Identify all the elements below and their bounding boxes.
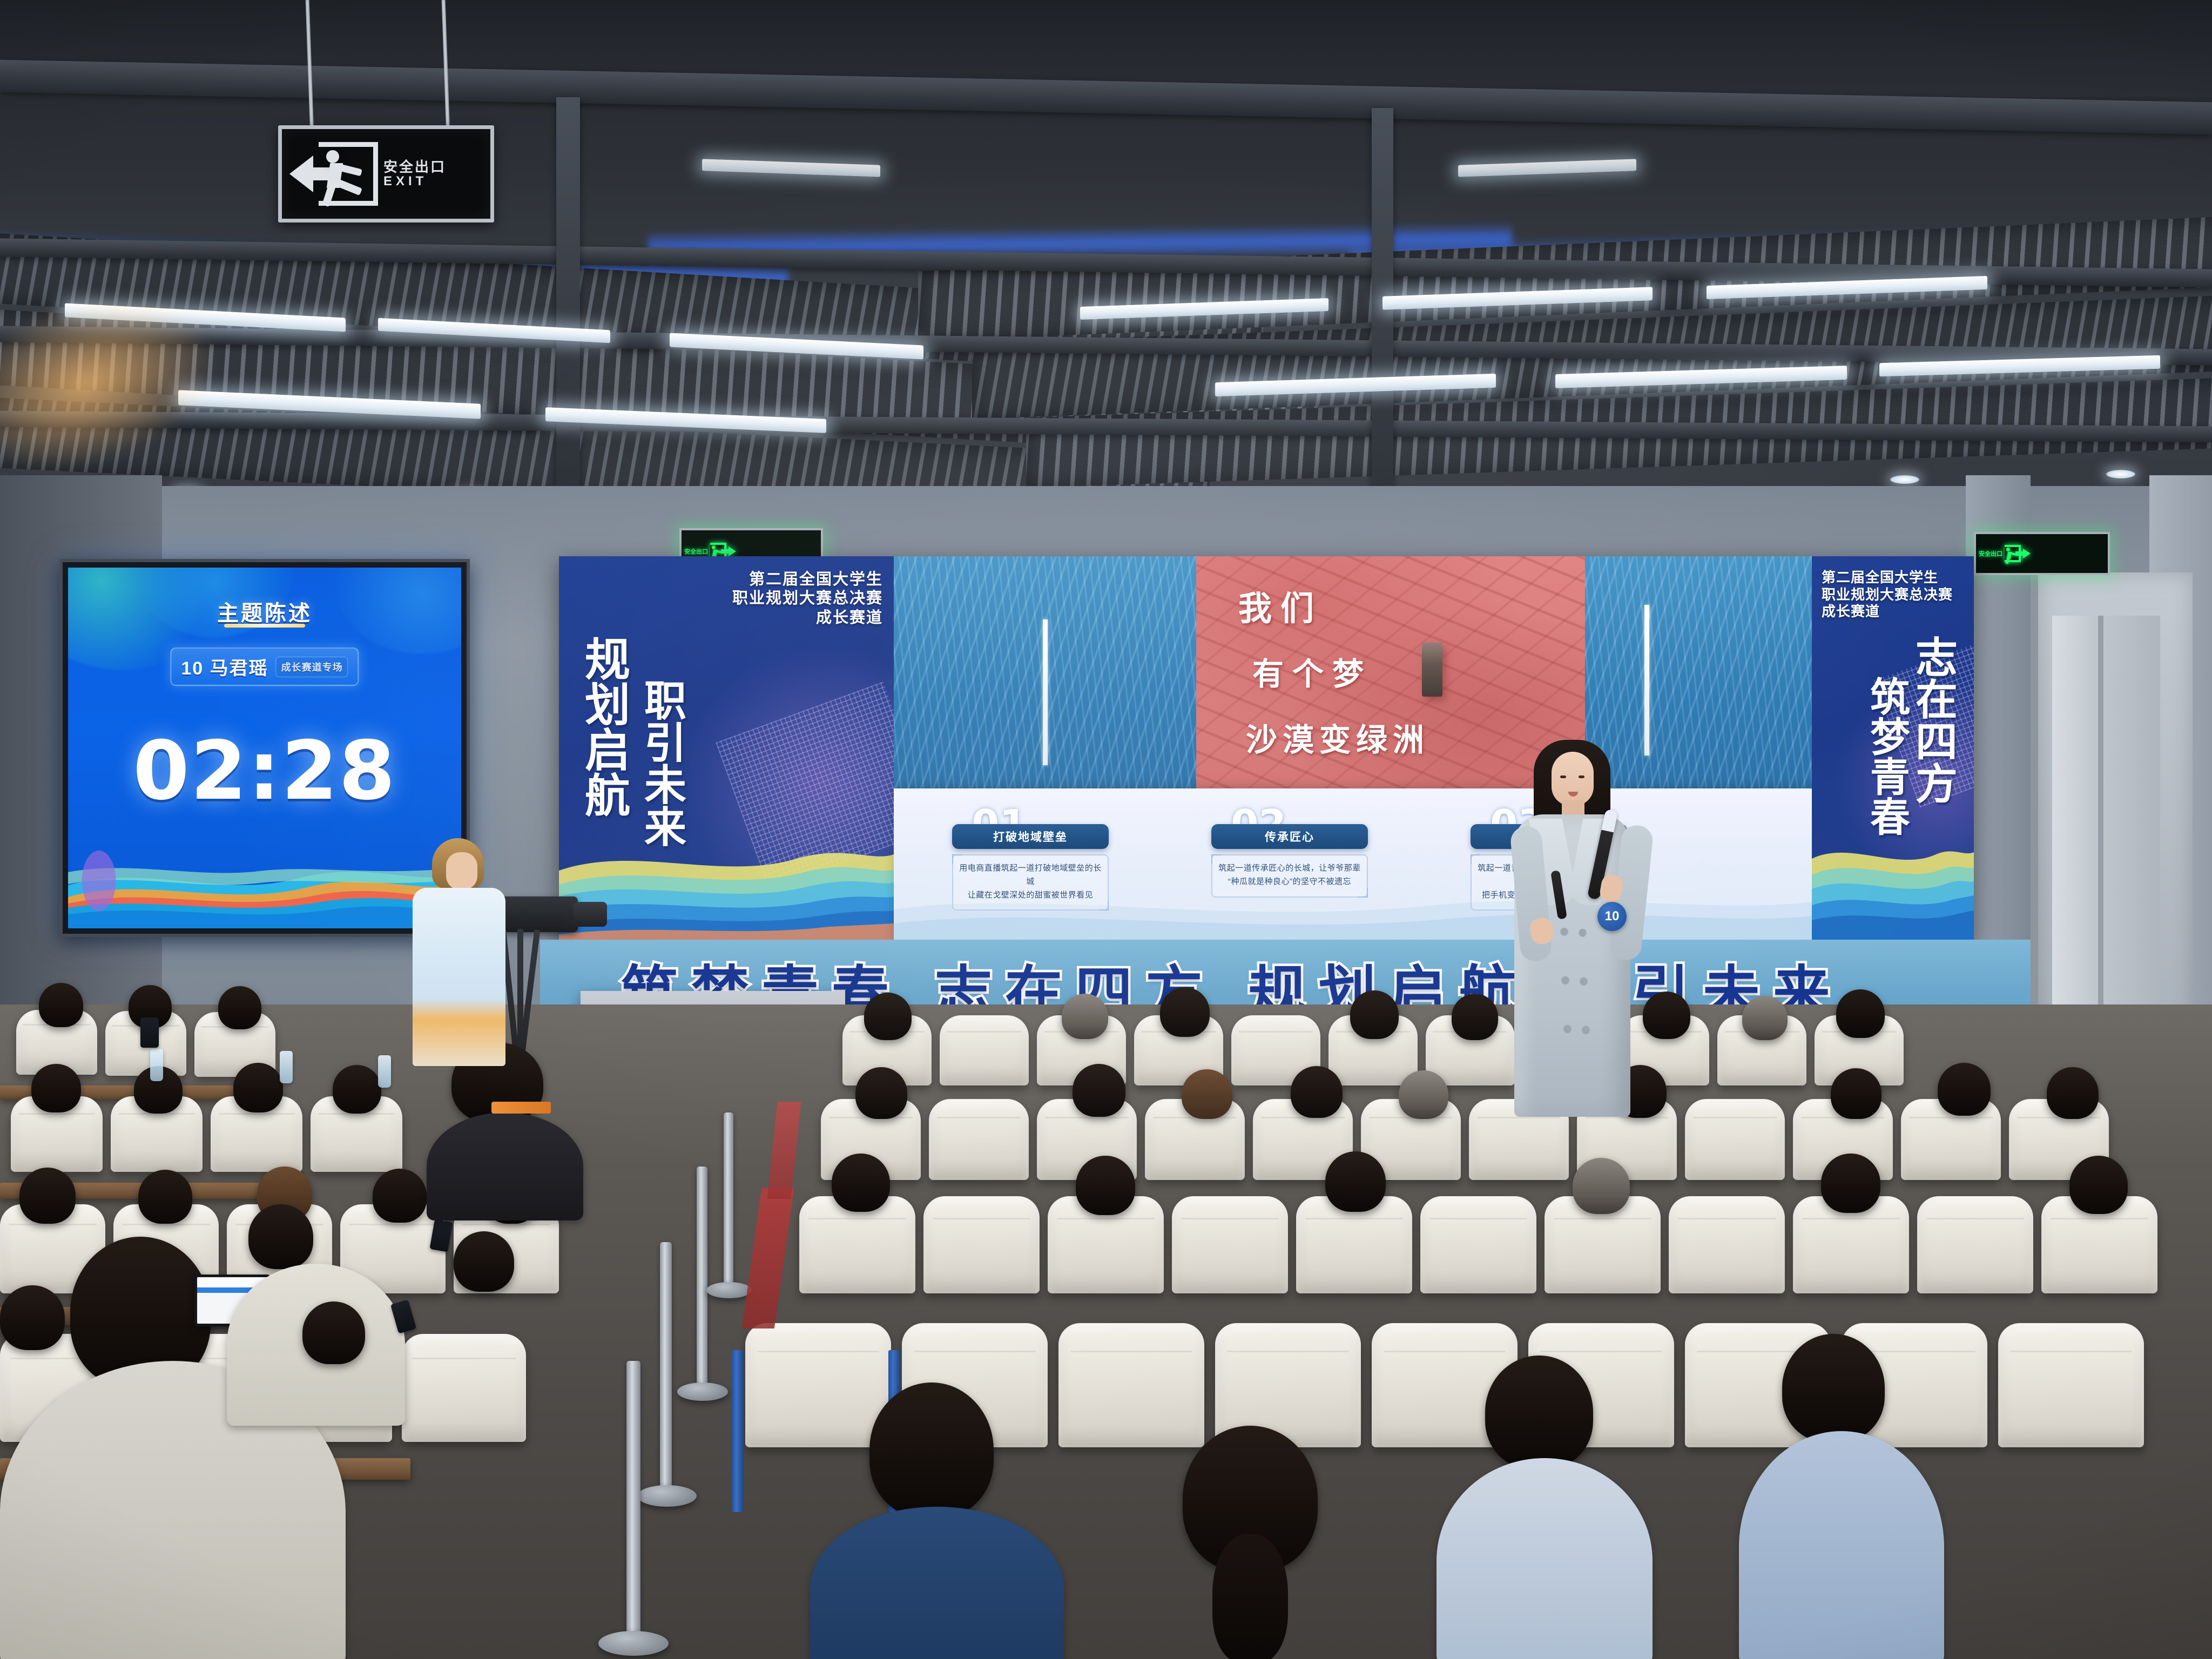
audience-head	[373, 1169, 427, 1223]
backdrop-right-brush-1: 志在四方	[1916, 637, 1962, 806]
audience-head	[19, 1168, 76, 1224]
seat	[1058, 1323, 1204, 1447]
audience-head	[1821, 1154, 1880, 1213]
seat	[1917, 1196, 2033, 1293]
running-person-icon	[319, 142, 378, 206]
seat	[402, 1334, 526, 1442]
measuring-pole	[1043, 619, 1048, 765]
audience-head	[1076, 1156, 1135, 1215]
stanchion-post	[660, 1242, 672, 1496]
desert-slogan-line3: 沙漠变绿洲	[1246, 724, 1429, 757]
audience-head	[2069, 1156, 2128, 1214]
audience-head-foreground	[1782, 1334, 1885, 1442]
stanchion-post	[724, 1112, 733, 1291]
audience-head	[2047, 1067, 2099, 1119]
backdrop-photo-desert: 我们 有个梦 沙漠变绿洲	[1196, 556, 1585, 799]
audience-head	[1836, 989, 1885, 1038]
audience-head	[1062, 994, 1108, 1039]
slide-description: 筑起一道传承匠心的长城，让爷爷那辈 “种瓜就是种良心”的坚守不被遗忘	[1211, 854, 1368, 898]
soil-probe-device	[1422, 643, 1442, 697]
seat	[1669, 1196, 1785, 1293]
audience-head	[1831, 1068, 1881, 1119]
audience-head	[1643, 992, 1690, 1039]
backdrop-right-panel: 第二届全国大学生 职业规划大赛总决赛 成长赛道 志在四方 筑梦青春	[1812, 556, 1974, 945]
timer-led-screen: 主题陈述 10 马君瑶 成长赛道专场 02:28	[59, 559, 470, 937]
audience-head	[31, 1064, 81, 1112]
desert-slogan-line1: 我们	[1238, 591, 1323, 626]
contestant-name: 马君瑶	[210, 658, 268, 679]
screen-section-title: 主题陈述	[68, 596, 461, 627]
operator-face	[446, 852, 477, 890]
audience-head	[1742, 996, 1788, 1040]
audience-head	[302, 1301, 365, 1364]
stanchion-base	[706, 1282, 752, 1298]
slide-item-01: 01 打破地域壁垒 用电商直播筑起一道打破地域壁垒的长城 让藏在戈壁深处的甜蜜被…	[952, 805, 1109, 911]
backdrop-photo-field-right	[1585, 556, 1812, 799]
auditorium-photo: 安全出口 EXIT 安全出口 安全出口 主题陈述	[0, 0, 2212, 1659]
audience-head	[832, 1154, 890, 1212]
audience-head	[0, 1285, 65, 1350]
exit-arrow-left-icon	[289, 156, 313, 192]
stanchion-base	[677, 1382, 728, 1401]
desert-slogan-line2: 有个梦	[1252, 658, 1372, 691]
slide-title: 传承匠心	[1211, 824, 1368, 849]
green-exit-label: 安全出口	[684, 547, 708, 556]
contestant-badge: 10	[1597, 902, 1627, 931]
audience-head-foreground	[869, 1382, 994, 1518]
audience-head	[1452, 994, 1498, 1040]
backdrop-right-brush-2: 筑梦青春	[1870, 678, 1914, 838]
audience-shoulders	[427, 1112, 583, 1220]
exit-label-en: EXIT	[383, 174, 446, 188]
title-underline	[224, 624, 305, 628]
countdown-clock: 02:28	[68, 724, 461, 818]
audience-head	[855, 1067, 907, 1119]
green-exit-label: 安全出口	[1979, 549, 2002, 558]
mobile-phone[interactable]	[140, 1017, 159, 1048]
audience-shoulders	[1739, 1431, 1944, 1659]
audience-head	[333, 1065, 381, 1114]
backdrop-photo-field	[894, 556, 1196, 799]
seat	[745, 1323, 891, 1447]
audience-shoulders	[810, 1507, 1064, 1659]
audience-head	[1399, 1070, 1448, 1119]
audience-head	[233, 1063, 283, 1112]
audience-head	[1573, 1158, 1630, 1214]
water-bottle[interactable]	[150, 1049, 163, 1081]
audience-head	[1291, 1066, 1343, 1118]
presentation-slide-card: 01 打破地域壁垒 用电商直播筑起一道打破地域壁垒的长城 让藏在戈壁深处的甜蜜被…	[894, 788, 1812, 945]
audience-shoulders	[1437, 1458, 1653, 1659]
backdrop-right-waves	[1812, 821, 1974, 945]
measuring-pole	[1644, 605, 1649, 756]
audience-head	[138, 1170, 192, 1224]
slide-title: 打破地域壁垒	[952, 824, 1109, 849]
screen-wave-graphic	[68, 847, 461, 928]
audience-head	[1325, 1151, 1386, 1212]
lanyard	[491, 1102, 551, 1114]
seat	[1420, 1196, 1536, 1293]
water-bottle[interactable]	[378, 1055, 391, 1088]
audience-head	[1938, 1063, 1991, 1116]
audience-head	[1350, 990, 1399, 1039]
exit-arrow-right-icon	[729, 547, 736, 556]
video-camera	[497, 896, 578, 932]
audience-ponytail	[1212, 1534, 1288, 1659]
backdrop-left-panel: 第二届全国大学生 职业规划大赛总决赛 成长赛道 规划启航 职引未来	[559, 556, 894, 945]
backdrop-left-brush-1: 规划启航	[585, 637, 637, 819]
backdrop-left-header: 第二届全国大学生 职业规划大赛总决赛 成长赛道	[656, 570, 883, 628]
seat	[1998, 1323, 2144, 1447]
stanchion-post	[626, 1361, 640, 1642]
door-seam	[2098, 616, 2103, 1031]
stanchion-post	[697, 1166, 707, 1393]
stage-backdrop: 第二届全国大学生 职业规划大赛总决赛 成长赛道 规划启航 职引未来 我们 有个梦	[559, 556, 1974, 945]
ceiling: 安全出口 EXIT	[0, 0, 2212, 518]
track-label: 成长赛道专场	[276, 657, 348, 677]
slide-item-02: 02 传承匠心 筑起一道传承匠心的长城，让爷爷那辈 “种瓜就是种良心”的坚守不被…	[1211, 805, 1368, 898]
audience-head	[218, 986, 261, 1029]
audience-head	[248, 1204, 313, 1269]
exit-label-cn: 安全出口	[383, 160, 446, 174]
stanchion-base	[637, 1485, 697, 1507]
backdrop-left-waves	[559, 821, 894, 945]
slide-description: 用电商直播筑起一道打破地域壁垒的长城 让藏在戈壁深处的甜蜜被世界看见	[952, 854, 1109, 911]
seat	[1685, 1099, 1785, 1180]
door-panel-right[interactable]	[2052, 616, 2160, 1031]
seat	[923, 1196, 1040, 1293]
audience-head	[864, 993, 912, 1040]
audience-head	[1182, 1069, 1232, 1119]
backdrop-right-header: 第二届全国大学生 职业规划大赛总决赛 成长赛道	[1822, 569, 1962, 621]
presenter-face	[1552, 752, 1594, 806]
audience-head	[39, 983, 83, 1027]
green-exit-sign-right: 安全出口	[1974, 532, 2110, 575]
audience-head-foreground	[1485, 1355, 1593, 1469]
water-bottle[interactable]	[280, 1051, 293, 1083]
seat	[929, 1099, 1029, 1180]
contestant-number: 10	[181, 658, 204, 679]
stanchion-base	[598, 1631, 669, 1656]
exit-arrow-right-icon	[2023, 549, 2031, 558]
seat-support	[732, 1350, 744, 1512]
seat	[1172, 1196, 1288, 1293]
audience-head	[1160, 987, 1210, 1037]
volunteer-vest	[413, 888, 505, 1066]
contestant-nameplate: 10 马君瑶 成长赛道专场	[170, 648, 359, 686]
audience-head	[454, 1231, 514, 1292]
audience-head	[1073, 1064, 1125, 1117]
seat	[940, 1015, 1029, 1085]
